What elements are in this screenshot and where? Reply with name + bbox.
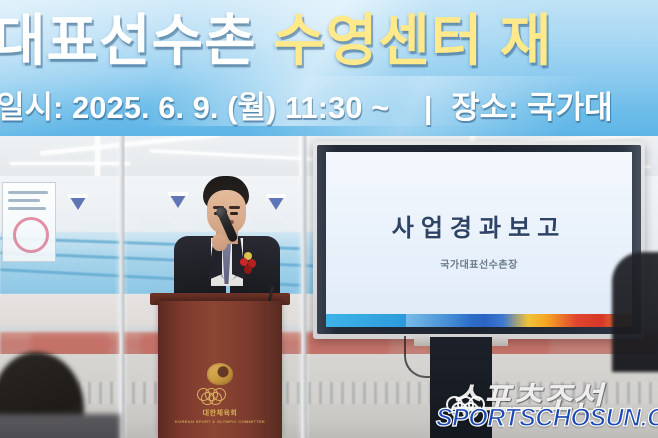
banner-place-label: 장소: <box>451 90 518 125</box>
podium-organization-en-text: KOREAN SPORT & OLYMPIC COMMITTEE <box>158 419 282 424</box>
presentation-display[interactable]: 사업경과보고 국가대표선수촌장 <box>313 141 645 339</box>
banner-title-highlight: 수영센터 재 <box>273 9 552 72</box>
glass-mullion <box>118 136 125 438</box>
podium-organization-name: 대한체육회 <box>158 408 282 418</box>
glass-mullion <box>300 136 307 438</box>
foreground-audience-shoulder <box>0 414 120 438</box>
foreground-right-object <box>612 252 658 372</box>
speaker-person <box>168 176 284 306</box>
koc-swirl-icon <box>207 363 233 385</box>
podium-emblem: 대한체육회 KOREAN SPORT & OLYMPIC COMMITTEE <box>158 363 282 424</box>
ceiling-column <box>95 136 100 180</box>
sign-text-line <box>8 191 48 194</box>
pennant-flag <box>68 194 88 210</box>
press-photo: 대표선수촌 수영센터 재 일시: 2025. 6. 9. (월) 11:30 ~… <box>0 0 658 438</box>
olympic-ring <box>209 392 222 405</box>
ceiling-truss <box>10 162 130 165</box>
podium: 대한체육회 KOREAN SPORT & OLYMPIC COMMITTEE <box>158 301 282 438</box>
event-banner: 대표선수촌 수영센터 재 일시: 2025. 6. 9. (월) 11:30 ~… <box>0 0 658 140</box>
eye <box>230 212 238 215</box>
slide-title: 사업경과보고 <box>326 208 632 243</box>
slide-subtitle: 국가대표선수촌장 <box>326 256 632 271</box>
watermark-english: SPORTSCHOSUN.COM <box>436 404 658 433</box>
presentation-slide: 사업경과보고 국가대표선수촌장 <box>326 152 632 327</box>
banner-place-value: 국가대 <box>527 90 613 125</box>
slide-accent-wedge <box>406 314 498 327</box>
slide-accent-bar <box>326 314 632 327</box>
banner-separator: | <box>398 90 443 125</box>
display-bezel: 사업경과보고 국가대표선수촌장 <box>317 145 641 334</box>
banner-title-white: 대표선수촌 <box>0 9 257 72</box>
watermark: 스포츠조선 SPORTSCHOSUN.COM <box>436 372 650 430</box>
pool-rules-sign <box>2 182 56 262</box>
banner-title: 대표선수촌 수영센터 재 <box>0 6 658 76</box>
sign-text-line <box>8 207 46 210</box>
banner-date-label: 일시: <box>0 90 63 125</box>
corsage-flower <box>240 252 257 274</box>
podium-organization-name-en: KOREAN SPORT & OLYMPIC COMMITTEE <box>158 419 282 424</box>
corsage-petal <box>244 265 252 274</box>
banner-date-value: 2025. 6. 9. (월) 11:30 ~ <box>72 90 389 125</box>
sign-text-line <box>8 199 40 202</box>
sign-prohibition-icon <box>13 217 49 253</box>
eyebrow <box>229 206 240 209</box>
banner-subline: 일시: 2025. 6. 9. (월) 11:30 ~ | 장소: 국가대 <box>0 86 658 130</box>
olympic-rings-icon <box>197 388 243 404</box>
